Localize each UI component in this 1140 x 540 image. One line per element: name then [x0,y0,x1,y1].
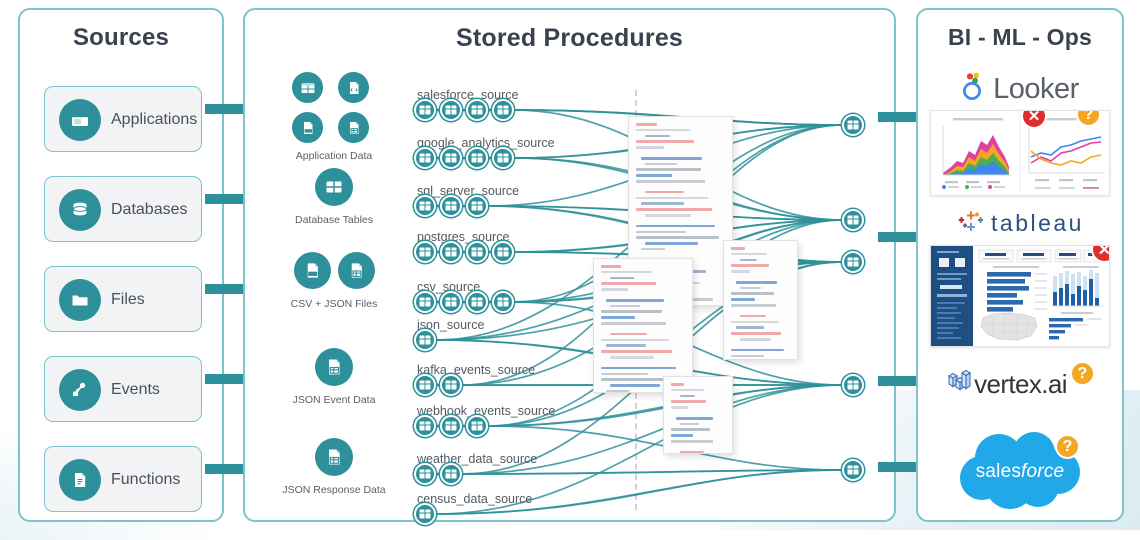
vertex-warning-badge[interactable]: ? [1070,361,1095,386]
lineage-label-webhook-events-source: webhook_events_source [417,404,555,418]
tool-tableau[interactable]: tableau [918,206,1122,347]
lineage-node[interactable] [466,195,488,217]
lineage-label-weather-data-source: weather_data_source [417,452,537,466]
lineage-label-sql-server-source: sql_server_source [417,184,519,198]
lineage-output-node[interactable] [842,459,864,481]
lineage-node[interactable] [414,195,436,217]
lineage-node[interactable] [466,147,488,169]
lineage-node[interactable] [414,415,436,437]
lineage-output-node[interactable] [842,251,864,273]
lineage-node[interactable] [440,241,462,263]
lineage-node[interactable] [492,99,514,121]
function-file-icon [59,459,101,501]
lineage-node[interactable] [440,147,462,169]
sources-panel-title: Sources [20,24,222,52]
lineage-label-google-analytics-source: google_analytics_source [417,136,555,150]
lineage-node[interactable] [466,415,488,437]
lineage-node[interactable] [414,374,436,396]
lineage-node[interactable] [440,291,462,313]
lineage-node[interactable] [440,463,462,485]
vertex-wordmark: vertex.ai [974,369,1067,400]
source-label-files: Files [111,267,145,333]
bi-ml-ops-panel: BI - ML - Ops Looker [916,8,1124,522]
events-icon [59,369,101,411]
lineage-node[interactable] [414,99,436,121]
lineage-node[interactable] [440,99,462,121]
lineage-node[interactable] [466,291,488,313]
tool-vertex-ai[interactable]: vertex.ai ? [918,368,1122,401]
lineage-node[interactable] [414,291,436,313]
folder-icon [59,279,101,321]
tableau-logo-icon [956,206,986,241]
source-card-applications[interactable]: Applications [44,86,202,152]
lineage-node[interactable] [492,147,514,169]
lineage-node[interactable] [414,503,436,525]
lineage-node[interactable] [492,241,514,263]
lineage-node[interactable] [492,291,514,313]
code-card-quaternary [663,376,733,454]
source-label-functions: Functions [111,447,180,513]
lineage-output-node[interactable] [842,374,864,396]
lineage-output-node[interactable] [842,114,864,136]
lineage-node[interactable] [440,195,462,217]
code-card-tertiary [723,240,798,360]
lineage-output-node[interactable] [842,209,864,231]
database-icon [59,189,101,231]
source-label-events: Events [111,357,160,423]
tableau-dashboard-preview[interactable]: ✕ [930,245,1110,347]
lineage-node[interactable] [440,415,462,437]
lineage-graph: salesforce_sourcegoogle_analytics_source… [243,8,896,522]
source-card-databases[interactable]: Databases [44,176,202,242]
source-card-events[interactable]: Events [44,356,202,422]
lineage-node[interactable] [466,99,488,121]
bi-panel-title: BI - ML - Ops [918,24,1122,51]
sources-panel: Sources Applications Databases Files Eve… [18,8,224,522]
looker-dashboard-preview[interactable]: ✕ ? [930,110,1110,196]
lineage-node[interactable] [414,329,436,351]
lineage-node[interactable] [414,147,436,169]
lineage-edges [243,8,896,522]
lineage-node[interactable] [440,374,462,396]
lineage-label-kafka-events-source: kafka_events_source [417,363,535,377]
source-card-files[interactable]: Files [44,266,202,332]
source-card-functions[interactable]: Functions [44,446,202,512]
source-label-databases: Databases [111,177,188,243]
tool-salesforce[interactable]: salesforce ? [918,428,1122,516]
looker-logo-icon [961,72,988,106]
salesforce-wordmark: salesforce [952,461,1088,483]
window-icon [59,99,101,141]
lineage-label-census-data-source: census_data_source [417,492,532,506]
tableau-wordmark: tableau [991,210,1084,237]
code-card-secondary [593,258,693,393]
salesforce-warning-badge[interactable]: ? [1055,434,1080,459]
salesforce-cloud-logo[interactable]: salesforce ? [952,428,1088,516]
source-label-applications: Applications [111,87,197,153]
lineage-node[interactable] [466,241,488,263]
vertex-logo-icon [946,368,972,401]
lineage-node[interactable] [414,463,436,485]
tool-looker[interactable]: Looker [918,72,1122,196]
looker-wordmark: Looker [993,73,1079,106]
lineage-node[interactable] [414,241,436,263]
